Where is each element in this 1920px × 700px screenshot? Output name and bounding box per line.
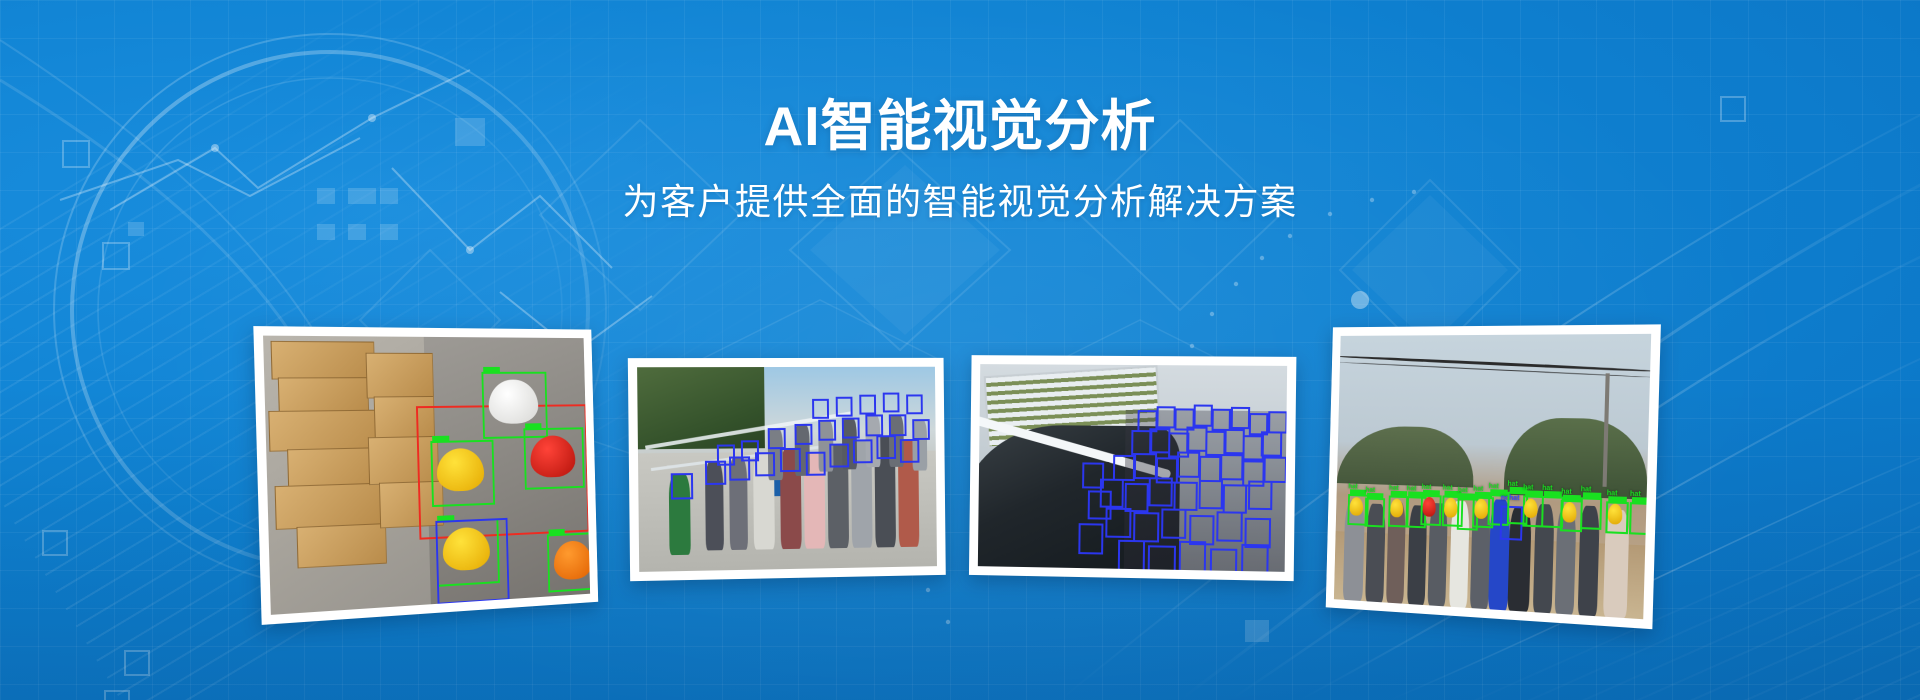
page-subtitle: 为客户提供全面的智能视觉分析解决方案 [0, 180, 1920, 223]
detection-box-head [1210, 548, 1238, 572]
detection-box-helmet [523, 428, 585, 490]
safety-helmet-yellow [1443, 498, 1457, 517]
safety-helmet-yellow [1474, 499, 1488, 519]
detection-box-face [768, 428, 786, 449]
detection-box-head [1230, 407, 1250, 430]
detection-box-hat [1365, 498, 1385, 528]
gallery-photo-helmet-warehouse[interactable] [253, 326, 598, 625]
detection-box-face [836, 397, 853, 417]
detection-box-face [780, 448, 801, 472]
detection-box-face [906, 395, 922, 415]
decor-square-outline [104, 690, 130, 700]
detection-box-head [1088, 491, 1112, 520]
detection-box-head [1134, 453, 1157, 480]
gallery-photo-footbridge-crowd[interactable] [628, 358, 946, 581]
scene-warehouse [263, 336, 590, 615]
detection-box-head [1198, 480, 1223, 509]
detection-box-head [1149, 477, 1173, 506]
detection-box-face [794, 423, 812, 444]
cardboard-box [278, 377, 369, 413]
detection-box-head [1133, 512, 1159, 543]
decor-square-filled [380, 224, 398, 240]
cardboard-box [296, 523, 386, 568]
detection-box-head [1177, 451, 1200, 478]
detection-box-face [865, 415, 883, 436]
detection-box-face [883, 393, 899, 413]
detection-box-face [899, 439, 919, 463]
detection-box-face [812, 399, 829, 419]
hillside [1337, 426, 1475, 488]
detection-box-head [1156, 406, 1176, 429]
detection-box-head [1082, 462, 1105, 489]
detection-box-head [1174, 482, 1198, 511]
detection-box-helmet [430, 440, 495, 507]
scene-footbridge [637, 367, 937, 572]
scene-outdoor-workers: hat hat hat hat hat hat [1334, 334, 1651, 619]
gallery-photo-outdoor-hat-detection[interactable]: hat hat hat hat hat hat [1326, 324, 1661, 629]
decor-square-outline [102, 242, 130, 270]
detection-box-face [818, 419, 836, 440]
detection-box-head [1112, 455, 1135, 482]
detection-box-head [1193, 404, 1213, 427]
decor-square-outline [124, 650, 150, 676]
detection-box-person [435, 518, 510, 605]
detection-box-face [876, 435, 896, 459]
detection-box-face [912, 419, 929, 440]
cardboard-box [274, 483, 382, 530]
detection-box-head [1117, 540, 1144, 572]
detection-box-face [842, 417, 860, 438]
detection-box-hat [1629, 502, 1651, 536]
detection-box-head [1220, 454, 1243, 481]
detection-box-face [741, 440, 759, 461]
photo-inner-frame [637, 367, 937, 572]
scene-metro-platform [978, 364, 1287, 572]
cardboard-box [366, 353, 434, 399]
cardboard-box [270, 341, 375, 379]
safety-helmet-yellow [1390, 499, 1403, 518]
detection-box-head [1078, 523, 1104, 554]
photo-inner-frame [263, 336, 590, 615]
detection-box-face [805, 451, 826, 475]
detection-box-head [1148, 545, 1175, 572]
page-title: AI智能视觉分析 [0, 96, 1920, 158]
detection-box-helmet [547, 532, 590, 593]
detection-box-face [859, 395, 875, 415]
overhead-cable [1334, 355, 1651, 373]
detection-box-head [1241, 544, 1269, 572]
detection-box-face [670, 473, 693, 500]
cardboard-box [269, 410, 384, 453]
ai-vision-banner: AI智能视觉分析 为客户提供全面的智能视觉分析解决方案 [0, 0, 1920, 700]
detection-box-head [1261, 432, 1283, 457]
detection-box-face [717, 444, 735, 465]
decor-square-filled [348, 224, 366, 240]
detection-box-face [829, 443, 849, 467]
safety-helmet-yellow [1562, 502, 1577, 522]
detection-box-hat [1580, 497, 1603, 530]
banner-text-block: AI智能视觉分析 为客户提供全面的智能视觉分析解决方案 [0, 96, 1920, 223]
photo-gallery: hat hat hat hat hat hat [0, 318, 1920, 648]
detection-box-face [889, 415, 907, 436]
safety-helmet-red [1422, 497, 1436, 516]
safety-helmet-yellow [1349, 497, 1363, 516]
safety-helmet-yellow [1608, 504, 1623, 524]
detection-box-head [1268, 411, 1288, 434]
detection-box-head [1199, 456, 1222, 483]
photo-inner-frame [978, 364, 1287, 572]
detection-box-head [1223, 485, 1248, 514]
gallery-photo-metro-platform[interactable] [969, 355, 1296, 581]
photo-inner-frame: hat hat hat hat hat hat [1334, 334, 1651, 619]
detection-box-head [1179, 541, 1207, 572]
detection-box-head [1248, 481, 1273, 510]
detection-box-head [1212, 409, 1232, 432]
decor-square-filled [317, 224, 335, 240]
detection-box-head [1161, 508, 1187, 539]
detection-box-head [1264, 456, 1287, 483]
detection-box-head [1216, 511, 1242, 542]
decor-square-filled [128, 222, 144, 236]
detection-box-face [852, 439, 872, 463]
